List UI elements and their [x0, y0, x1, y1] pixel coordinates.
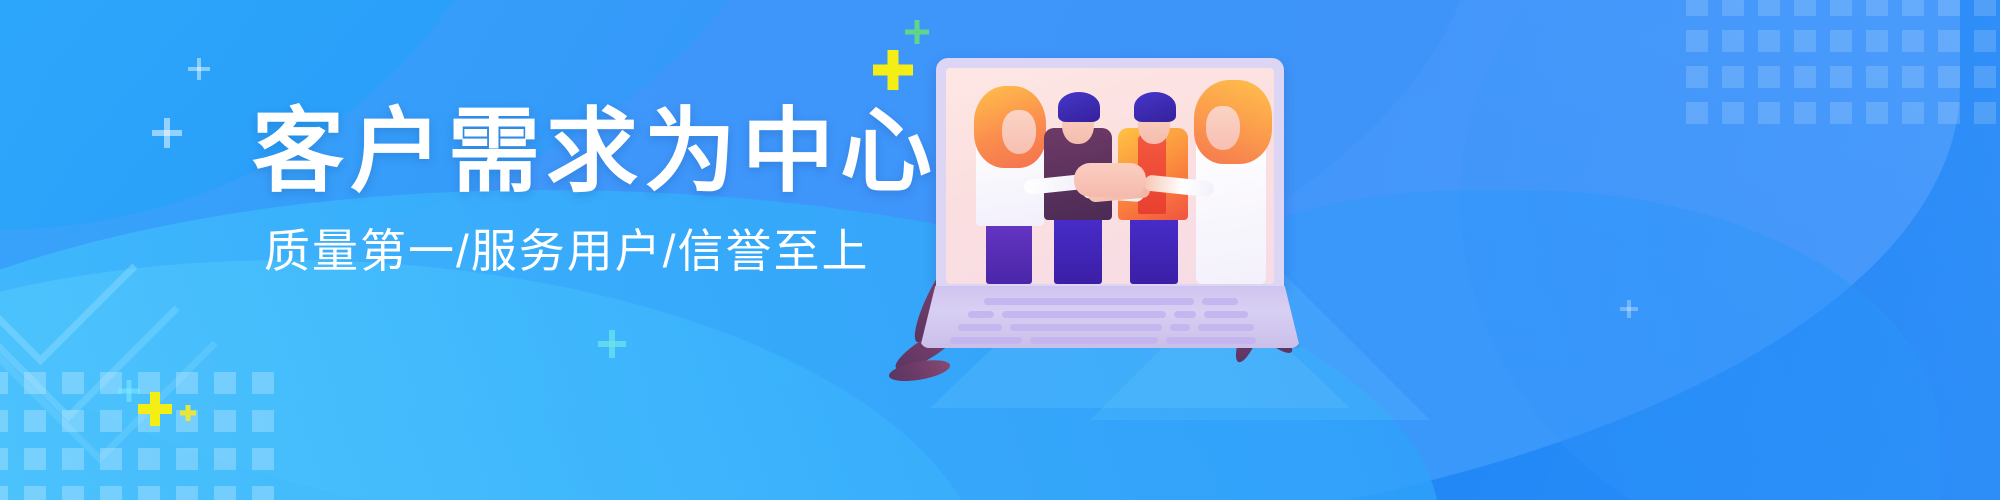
chevron-icon-1 [0, 172, 137, 366]
keyboard-key [1202, 298, 1238, 305]
person-4-face [1206, 106, 1240, 150]
plus-icon-white-3 [1620, 300, 1638, 318]
keyboard-key [1030, 337, 1158, 344]
plus-icon-white-2 [152, 118, 182, 148]
keyboard-key [1010, 324, 1162, 331]
wave-shape-bottom-2 [0, 260, 990, 500]
plus-icon-green [905, 20, 929, 44]
banner-headline: 客户需求为中心 [252, 104, 972, 201]
chevron-icon-3 [0, 227, 218, 463]
keyboard-key [984, 298, 1194, 305]
person-2-hair [1058, 92, 1100, 122]
chevron-icon-2 [0, 199, 180, 421]
person-3-hair [1134, 92, 1176, 122]
person-1-face [1002, 110, 1036, 154]
laptop-screen [936, 58, 1284, 290]
keyboard-key [1166, 337, 1256, 344]
promo-banner: 客户需求为中心 质量第一/服务用户/信誉至上 [0, 0, 2000, 500]
stacked-hands-icon [1074, 163, 1146, 197]
wave-shape-right [1460, 0, 2000, 500]
plus-icon-cyan-2 [598, 330, 626, 358]
keyboard-key [1198, 324, 1254, 331]
laptop-illustration [920, 58, 1300, 348]
banner-subheadline: 质量第一/服务用户/信誉至上 [264, 225, 972, 278]
plus-icon-yellow-large [873, 50, 913, 90]
plus-icon-white-1 [188, 58, 210, 80]
keyboard-key [1170, 324, 1190, 331]
square-grid-top-right [1686, 0, 2000, 128]
plus-icon-cyan-1 [118, 380, 140, 402]
laptop-keyboard-base [920, 286, 1300, 348]
keyboard-key [1002, 311, 1166, 318]
keyboard-key [950, 337, 1022, 344]
plus-icon-yellow-2 [138, 392, 172, 426]
person-4 [1184, 84, 1274, 284]
banner-text-block: 客户需求为中心 质量第一/服务用户/信誉至上 [252, 104, 972, 277]
keyboard-key [958, 324, 1002, 331]
square-grid-bottom-left [0, 372, 278, 500]
keyboard-key [968, 311, 994, 318]
keyboard-key [1174, 311, 1196, 318]
keyboard-key [1204, 311, 1248, 318]
illustration-description: 团队合作 — 四人将手叠放在一起 [0, 0, 1, 1]
laptop-screen-content [946, 68, 1274, 284]
plus-icon-yellow-3 [180, 405, 196, 421]
